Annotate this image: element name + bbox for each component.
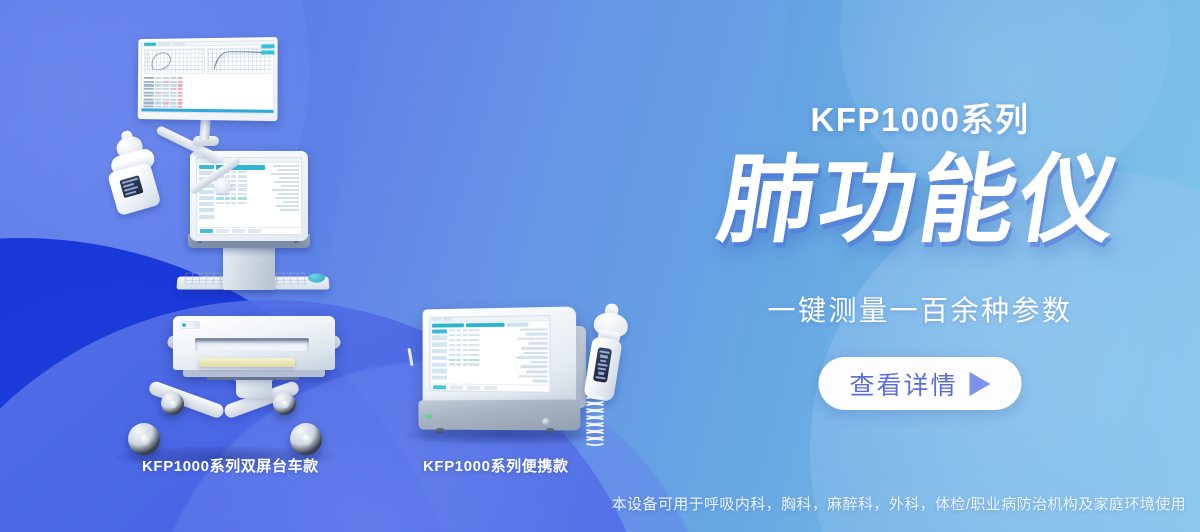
toolbar-tab (172, 42, 184, 45)
touch-panel-footer (197, 227, 301, 234)
play-arrow-icon (970, 372, 991, 396)
panel-footer-button (216, 229, 229, 233)
toolbar-tab (158, 43, 170, 46)
table-row (449, 328, 512, 332)
product-banner: KFP1000系列双屏台车款 KFP1000系列便携款 KFP1000系列 肺功… (0, 0, 1200, 532)
usage-disclaimer: 本设备可用于呼吸内科，胸科，麻醉科，外科，体检/职业病防治机构及家庭环境使用 (612, 493, 1186, 514)
flow-volume-loop-chart (144, 48, 205, 74)
nav-item (199, 196, 214, 200)
portable-footer-button (450, 385, 463, 389)
touch-panel-bezel (190, 151, 308, 241)
banner-text-column: KFP1000系列 肺功能仪 一键测量一百余种参数 查看详情 (640, 0, 1200, 532)
titlebar-tab (443, 318, 452, 321)
monitor-action-buttons (261, 44, 274, 54)
trolley-column (223, 246, 275, 290)
table-row (144, 77, 272, 80)
portable-screen (429, 315, 550, 393)
panel-footer-button (200, 229, 213, 233)
nav-item (199, 215, 214, 219)
power-indicator-icon (182, 323, 186, 327)
product-image-trolley (95, 38, 345, 448)
view-details-label: 查看详情 (849, 366, 957, 402)
portable-foot-pad-right (546, 428, 554, 433)
monitor-charts-area (142, 45, 274, 76)
spirometer-cable-lead (407, 348, 413, 366)
nav-item (432, 356, 447, 360)
portable-footer-button (433, 385, 446, 389)
toolbar-tab (144, 43, 156, 46)
trolley-mouse (308, 273, 325, 282)
table-row (216, 202, 265, 205)
touch-panel-screen (196, 157, 302, 235)
table-row-selected (216, 197, 265, 200)
portable-results-column (513, 328, 547, 382)
nav-item (199, 165, 214, 169)
monitor-action-button (261, 50, 274, 54)
nav-item (432, 349, 447, 353)
monitor-bezel (138, 37, 278, 121)
table-row-selected (449, 358, 512, 362)
trolley-caster-hub-front-left (139, 434, 150, 445)
table-row (449, 363, 512, 367)
trolley-printed-paper (199, 358, 295, 367)
portable-footer (430, 383, 549, 392)
banner-subtitle: 一键测量一百余种参数 (640, 289, 1200, 329)
portable-connector-port (542, 418, 550, 426)
nav-item (432, 336, 447, 340)
portable-content (430, 326, 549, 385)
handheld-spirometer-trolley (97, 130, 175, 225)
portable-foot-pad-left (436, 428, 444, 433)
monitor-action-button (261, 44, 274, 48)
caption-portable-model: KFP1000系列便携款 (423, 455, 569, 476)
titlebar-tab (432, 318, 441, 321)
portable-nav (432, 329, 447, 381)
nav-item (199, 208, 214, 212)
nav-item (432, 369, 447, 373)
nav-item (432, 329, 447, 333)
spirometer-coiled-cable (584, 396, 618, 450)
touch-panel-results-column (267, 165, 299, 225)
monitor-neck (199, 118, 211, 140)
panel-footer-button (248, 229, 261, 233)
monitor-statusbar (142, 109, 274, 113)
monitor-results-table (142, 76, 274, 110)
product-series-label: KFP1000系列 (640, 93, 1200, 141)
table-row (449, 333, 512, 337)
portable-base-unit (418, 400, 580, 431)
table-row (144, 84, 272, 87)
table-row (449, 348, 512, 351)
table-row (449, 343, 512, 347)
nav-item (432, 342, 447, 346)
monitor-screen (141, 40, 275, 114)
nav-item (199, 190, 214, 194)
portable-table (449, 328, 512, 382)
trolley-printer-slot (195, 338, 309, 351)
nav-item (199, 202, 214, 206)
product-image-portable (400, 300, 630, 450)
trolley-base-leg-front-left (147, 380, 225, 420)
nav-item (432, 362, 447, 366)
flow-volume-loop-svg (145, 49, 205, 73)
table-row (449, 354, 512, 357)
nav-item (432, 376, 447, 380)
page-title: 肺功能仪 (632, 150, 1200, 251)
trolley-arm-joint (215, 178, 231, 194)
portable-power-led-icon (426, 415, 432, 418)
table-row (449, 338, 512, 342)
table-row (144, 81, 272, 84)
portable-footer-button (467, 386, 480, 390)
view-details-button[interactable]: 查看详情 (819, 357, 1022, 410)
portable-footer-button (484, 386, 498, 390)
caption-trolley-model: KFP1000系列双屏台车款 (142, 455, 319, 476)
trolley-caster-hub-front-right (301, 434, 312, 445)
trolley-caster-hub-rear-right (281, 400, 289, 408)
panel-footer-button (232, 229, 245, 233)
trolley-caster-hub-rear-left (169, 400, 177, 408)
